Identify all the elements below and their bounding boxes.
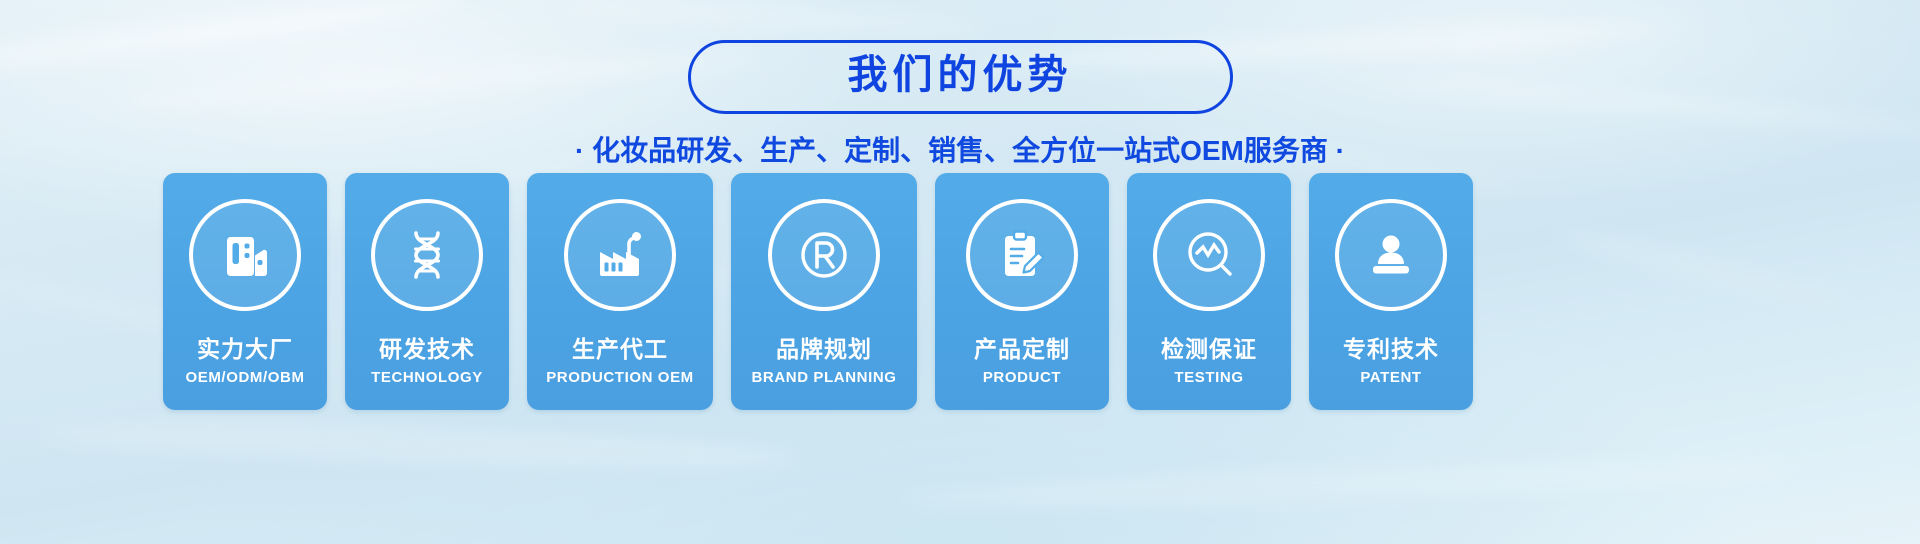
clipboard-pen-icon [991,224,1053,286]
icon-circle [966,199,1078,311]
card-title-cn: 产品定制 [974,337,1070,362]
factory-buildings-icon [214,224,276,286]
card-title-cn: 专利技术 [1343,337,1439,362]
card-title-en: PRODUCTION OEM [546,369,694,386]
advantage-card[interactable]: 品牌规划 BRAND PLANNING [731,173,917,410]
advantage-card[interactable]: 研发技术 TECHNOLOGY [345,173,509,410]
icon-circle [189,199,301,311]
title-pill: 我们的优势 [688,40,1233,114]
registered-mark-icon [791,222,857,288]
icon-circle [1153,199,1265,311]
icon-circle [564,199,676,311]
advantage-card[interactable]: 实力大厂 OEM/ODM/OBM [163,173,327,410]
card-title-cn: 品牌规划 [776,337,872,362]
card-title-cn: 实力大厂 [197,337,293,362]
card-title-cn: 生产代工 [572,337,668,362]
dna-helix-icon [396,224,458,286]
icon-circle [768,199,880,311]
stamp-person-icon [1360,224,1422,286]
card-title-en: PATENT [1360,369,1421,386]
advantage-card[interactable]: 产品定制 PRODUCT [935,173,1109,410]
card-title-cn: 研发技术 [379,337,475,362]
card-title-en: BRAND PLANNING [751,369,896,386]
icon-circle [1335,199,1447,311]
water-texture-streak [1553,224,1848,312]
water-texture-streak [40,417,801,474]
water-texture-streak [900,454,1800,513]
advantage-card[interactable]: 生产代工 PRODUCTION OEM [527,173,713,410]
factory-icon [589,224,651,286]
magnifier-wave-icon [1178,224,1240,286]
water-texture-streak [560,0,990,37]
heading-block: 我们的优势 · 化妆品研发、生产、定制、销售、全方位一站式OEM服务商 · [0,40,1920,169]
advantage-card[interactable]: 检测保证 TESTING [1127,173,1291,410]
advantage-card-list: 实力大厂 OEM/ODM/OBM 研发技术 TECHNOLOGY [163,173,1473,410]
advantage-card[interactable]: 专利技术 PATENT [1309,173,1473,410]
card-title-en: TESTING [1174,369,1243,386]
promo-banner: 我们的优势 · 化妆品研发、生产、定制、销售、全方位一站式OEM服务商 · [0,0,1920,544]
icon-circle [371,199,483,311]
page-title: 我们的优势 [745,52,1176,99]
card-title-en: OEM/ODM/OBM [185,369,304,386]
page-subtitle: · 化妆品研发、生产、定制、销售、全方位一站式OEM服务商 · [0,129,1920,169]
card-title-cn: 检测保证 [1161,337,1257,362]
card-title-en: TECHNOLOGY [371,369,483,386]
card-title-en: PRODUCT [983,369,1061,386]
